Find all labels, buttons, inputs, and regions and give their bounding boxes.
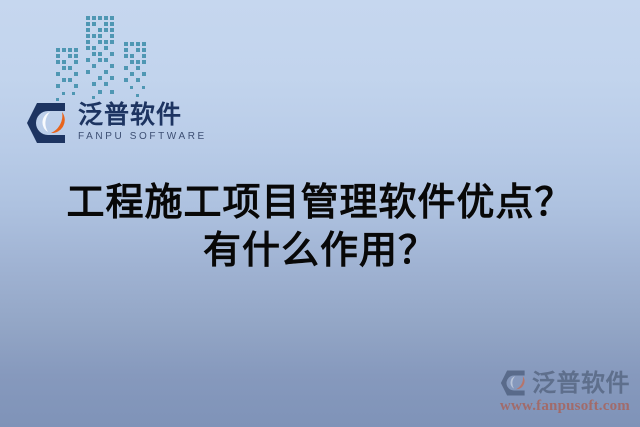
watermark-url: www.fanpusoft.com <box>500 398 630 415</box>
watermark: 泛普软件 www.fanpusoft.com <box>499 368 630 415</box>
headline-line-1: 工程施工项目管理软件优点？ <box>0 178 640 226</box>
watermark-logo-row: 泛普软件 <box>499 368 630 398</box>
brand-name-en: FANPU SOFTWARE <box>78 131 207 143</box>
fanpu-hexagon-logo-icon <box>499 368 529 398</box>
brand-name-cn: 泛普软件 <box>78 101 207 129</box>
headline-line-2: 有什么作用？ <box>0 226 640 274</box>
fanpu-hexagon-logo-icon <box>24 99 72 147</box>
brand-text: 泛普软件 FANPU SOFTWARE <box>78 99 207 143</box>
watermark-name-cn: 泛普软件 <box>532 370 630 397</box>
dot-matrix-city-skyline-icon <box>52 4 156 104</box>
promo-banner: 泛普软件 FANPU SOFTWARE 工程施工项目管理软件优点？ 有什么作用？… <box>0 0 640 427</box>
brand-logo: 泛普软件 FANPU SOFTWARE <box>24 99 207 147</box>
headline: 工程施工项目管理软件优点？ 有什么作用？ <box>0 178 640 274</box>
